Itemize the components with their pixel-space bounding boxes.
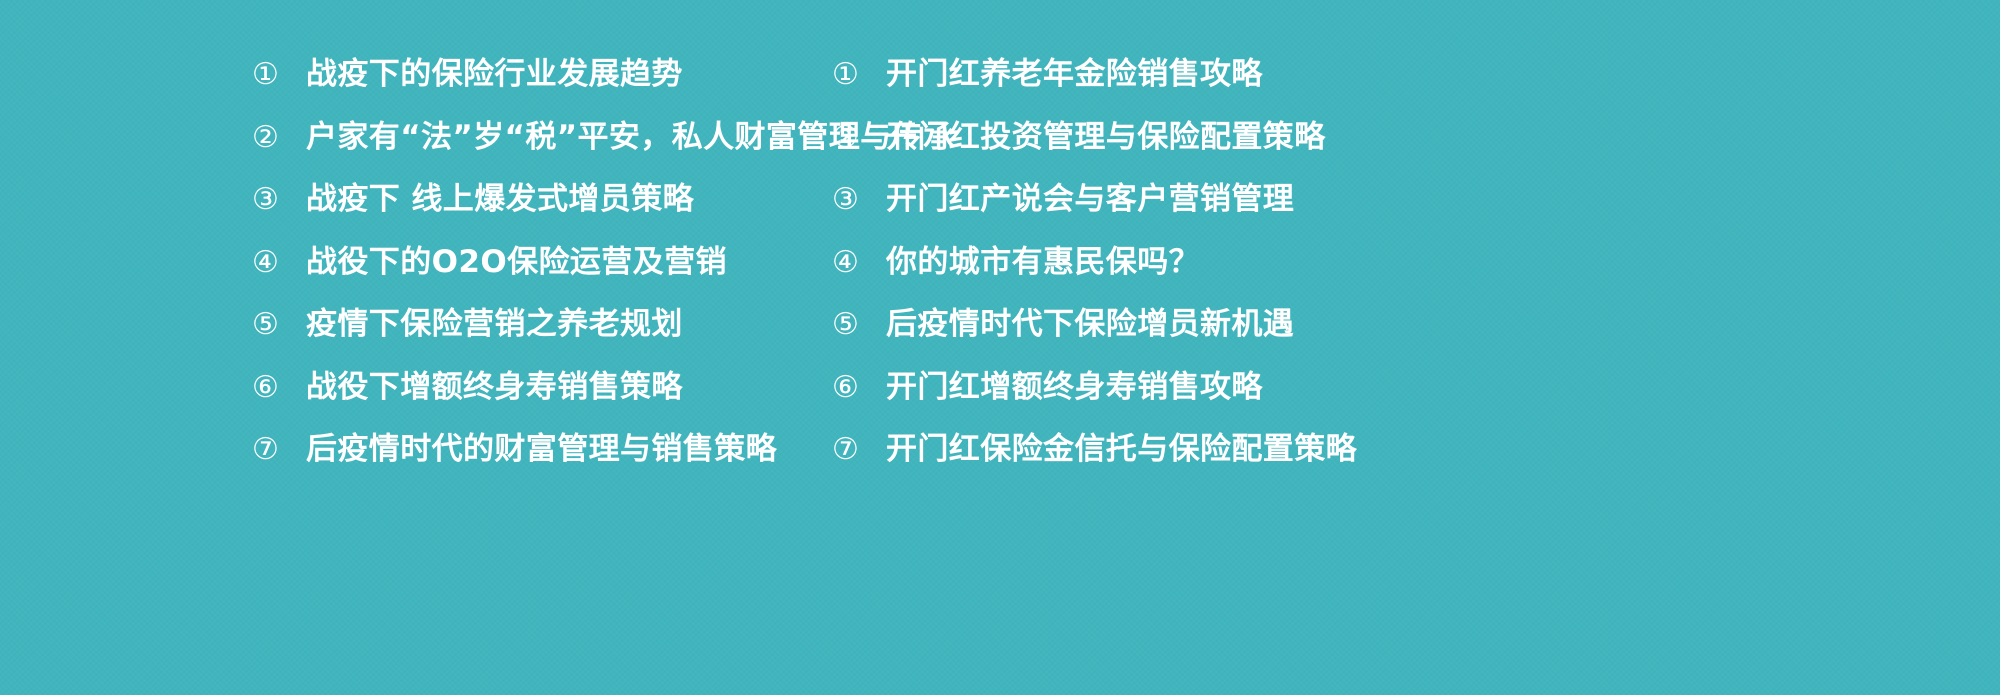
list-item[interactable]: ⑦ 开门红保险金信托与保险配置策略 bbox=[832, 427, 1357, 490]
list-marker-7: ⑦ bbox=[832, 428, 886, 472]
list-marker-5: ⑤ bbox=[832, 303, 886, 347]
list-marker-1: ① bbox=[252, 53, 306, 97]
list-item[interactable]: ⑥ 开门红增额终身寿销售攻略 bbox=[832, 365, 1357, 428]
list-marker-6: ⑥ bbox=[832, 366, 886, 410]
list-marker-5: ⑤ bbox=[252, 303, 306, 347]
list-marker-7: ⑦ bbox=[252, 428, 306, 472]
list-marker-3: ③ bbox=[252, 178, 306, 222]
list-item-label: 开门红养老年金险销售攻略 bbox=[886, 52, 1263, 96]
list-marker-1: ① bbox=[832, 53, 886, 97]
list-marker-2: ② bbox=[832, 116, 886, 160]
topic-columns: ① 战疫下的保险行业发展趋势 ② 户家有“法”岁“税”平安，私人财富管理与传承 … bbox=[0, 0, 2000, 695]
right-column: ① 开门红养老年金险销售攻略 ② 开门红投资管理与保险配置策略 ③ 开门红产说会… bbox=[790, 0, 1750, 695]
list-marker-4: ④ bbox=[832, 241, 886, 285]
list-item-label: 你的城市有惠民保吗？ bbox=[886, 240, 1200, 284]
list-item-label: 疫情下保险营销之养老规划 bbox=[306, 302, 683, 346]
list-item[interactable]: ① 开门红养老年金险销售攻略 bbox=[832, 52, 1357, 115]
right-column-list: ① 开门红养老年金险销售攻略 ② 开门红投资管理与保险配置策略 ③ 开门红产说会… bbox=[832, 52, 1357, 490]
list-item[interactable]: ④ 你的城市有惠民保吗？ bbox=[832, 240, 1357, 303]
slide-background: ① 战疫下的保险行业发展趋势 ② 户家有“法”岁“税”平安，私人财富管理与传承 … bbox=[0, 0, 2000, 695]
list-item-label: 战役下增额终身寿销售策略 bbox=[306, 365, 683, 409]
list-item-label: 开门红产说会与客户营销管理 bbox=[886, 177, 1294, 221]
list-item-label: 战役下的O2O保险运营及营销 bbox=[306, 240, 727, 284]
list-item-label: 后疫情时代的财富管理与销售策略 bbox=[306, 427, 777, 471]
list-marker-2: ② bbox=[252, 116, 306, 160]
list-item[interactable]: ⑤ 后疫情时代下保险增员新机遇 bbox=[832, 302, 1357, 365]
list-marker-4: ④ bbox=[252, 241, 306, 285]
list-marker-6: ⑥ bbox=[252, 366, 306, 410]
list-item-label: 后疫情时代下保险增员新机遇 bbox=[886, 302, 1294, 346]
list-item-label: 战疫下的保险行业发展趋势 bbox=[306, 52, 683, 96]
list-item-label: 开门红增额终身寿销售攻略 bbox=[886, 365, 1263, 409]
left-column: ① 战疫下的保险行业发展趋势 ② 户家有“法”岁“税”平安，私人财富管理与传承 … bbox=[0, 0, 790, 695]
list-item[interactable]: ③ 开门红产说会与客户营销管理 bbox=[832, 177, 1357, 240]
list-marker-3: ③ bbox=[832, 178, 886, 222]
list-item-label: 开门红投资管理与保险配置策略 bbox=[886, 115, 1326, 159]
list-item[interactable]: ② 开门红投资管理与保险配置策略 bbox=[832, 115, 1357, 178]
list-item-label: 战疫下 线上爆发式增员策略 bbox=[306, 177, 694, 221]
list-item-label: 开门红保险金信托与保险配置策略 bbox=[886, 427, 1357, 471]
